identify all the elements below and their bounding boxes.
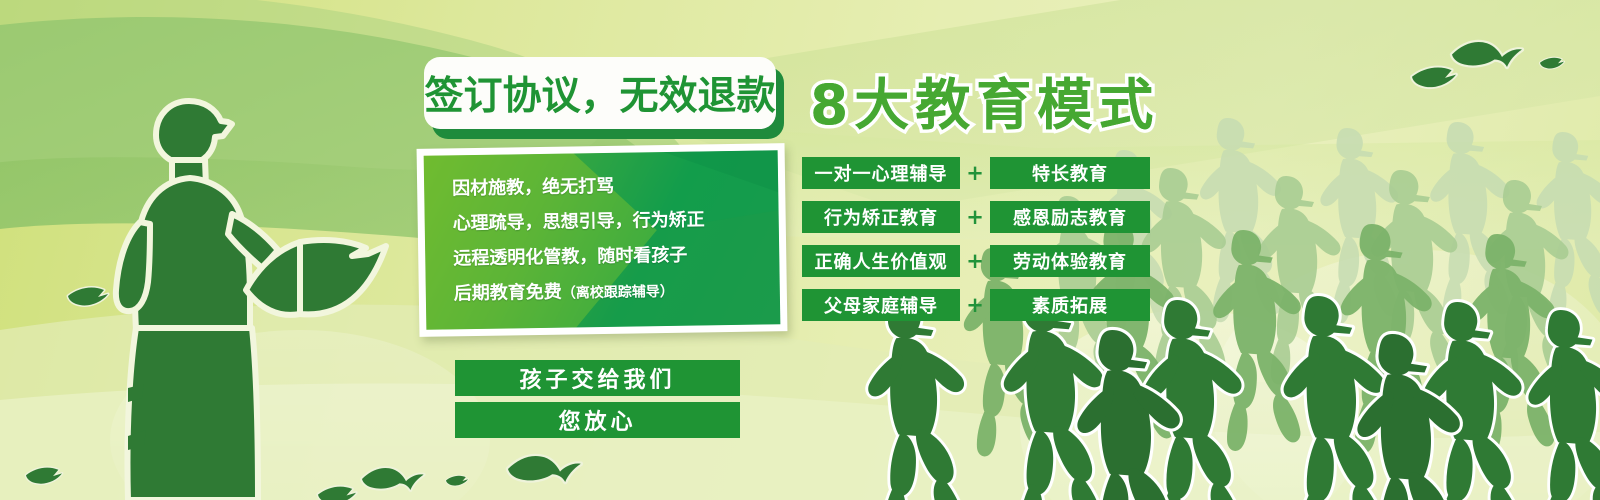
mode-tag-label: 素质拓展 [1032, 292, 1108, 318]
mode-tag-left[interactable]: 行为矫正教育 [802, 201, 960, 233]
feature-line: 后期教育免费（离校跟踪辅导） [454, 272, 773, 312]
cta-button-reassure[interactable]: 您放心 [455, 402, 740, 438]
feature-line: 心理疏导，思想引导，行为矫正 [452, 202, 771, 242]
pill-surface: 签订协议，无效退款 [424, 57, 776, 129]
mode-row: 父母家庭辅导 + 素质拓展 [802, 289, 1150, 321]
feature-line-main: 心理疏导，思想引导，行为矫正 [453, 209, 705, 234]
feature-line: 远程透明化管教，随时看孩子 [453, 237, 772, 277]
mode-tag-label: 一对一心理辅导 [815, 160, 948, 186]
mode-tag-label: 特长教育 [1032, 160, 1108, 186]
mode-tag-label: 劳动体验教育 [1013, 248, 1127, 274]
feature-line-note: （离校跟踪辅导） [562, 284, 674, 302]
page-title: 8大教育模式 [810, 60, 1159, 140]
guarantee-pill[interactable]: 签订协议，无效退款 [424, 57, 776, 135]
mode-row: 行为矫正教育 + 感恩励志教育 [802, 201, 1150, 233]
guarantee-text: 签订协议，无效退款 [424, 65, 775, 121]
feature-card: 因材施教，绝无打骂 心理疏导，思想引导，行为矫正 远程透明化管教，随时看孩子 后… [417, 143, 788, 337]
feature-card-inner: 因材施教，绝无打骂 心理疏导，思想引导，行为矫正 远程透明化管教，随时看孩子 后… [424, 150, 781, 330]
mode-tag-left[interactable]: 一对一心理辅导 [802, 157, 960, 189]
mode-tag-right[interactable]: 感恩励志教育 [990, 201, 1150, 233]
cta-group: 孩子交给我们 您放心 [455, 360, 740, 444]
feature-list: 因材施教，绝无打骂 心理疏导，思想引导，行为矫正 远程透明化管教，随时看孩子 后… [452, 167, 772, 312]
education-modes-grid: 一对一心理辅导 + 特长教育 行为矫正教育 + 感恩励志教育 正确人生价值观 +… [802, 157, 1150, 333]
mode-row: 一对一心理辅导 + 特长教育 [802, 157, 1150, 189]
plus-icon: + [960, 293, 990, 317]
education-banner: 签订协议，无效退款 8大教育模式 8大教育模式 因材施教，绝无打骂 心理疏导，思… [0, 0, 1600, 500]
cta-label: 孩子交给我们 [519, 362, 675, 394]
mode-tag-label: 正确人生价值观 [815, 248, 948, 274]
plus-icon: + [960, 249, 990, 273]
mode-tag-right[interactable]: 劳动体验教育 [990, 245, 1150, 277]
mode-tag-label: 行为矫正教育 [824, 204, 938, 230]
mode-tag-left[interactable]: 正确人生价值观 [802, 245, 960, 277]
mode-tag-right[interactable]: 素质拓展 [990, 289, 1150, 321]
plus-icon: + [960, 205, 990, 229]
flying-birds [0, 0, 1600, 500]
mode-tag-left[interactable]: 父母家庭辅导 [802, 289, 960, 321]
feature-line: 因材施教，绝无打骂 [452, 167, 771, 207]
feature-line-main: 后期教育免费 [454, 282, 562, 305]
plus-icon: + [960, 161, 990, 185]
cta-button-entrust[interactable]: 孩子交给我们 [455, 360, 740, 396]
cta-label: 您放心 [558, 404, 636, 436]
mode-tag-label: 父母家庭辅导 [824, 292, 938, 318]
mode-tag-right[interactable]: 特长教育 [990, 157, 1150, 189]
mode-row: 正确人生价值观 + 劳动体验教育 [802, 245, 1150, 277]
mode-tag-label: 感恩励志教育 [1013, 204, 1127, 230]
feature-line-main: 远程透明化管教，随时看孩子 [453, 245, 687, 270]
feature-line-main: 因材施教，绝无打骂 [452, 176, 614, 200]
